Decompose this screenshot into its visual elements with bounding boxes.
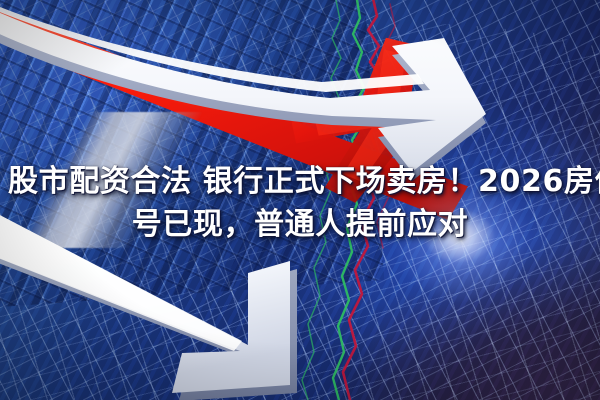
thumbnail-image: 股市配资合法 银行正式下场卖房！2026房价信 号已现，普通人提前应对 — [0, 0, 600, 400]
headline-line-2: 号已现，普通人提前应对 — [8, 203, 592, 246]
headline-line-1: 股市配资合法 银行正式下场卖房！2026房价信 — [8, 160, 592, 203]
headline-text: 股市配资合法 银行正式下场卖房！2026房价信 号已现，普通人提前应对 — [0, 160, 600, 246]
